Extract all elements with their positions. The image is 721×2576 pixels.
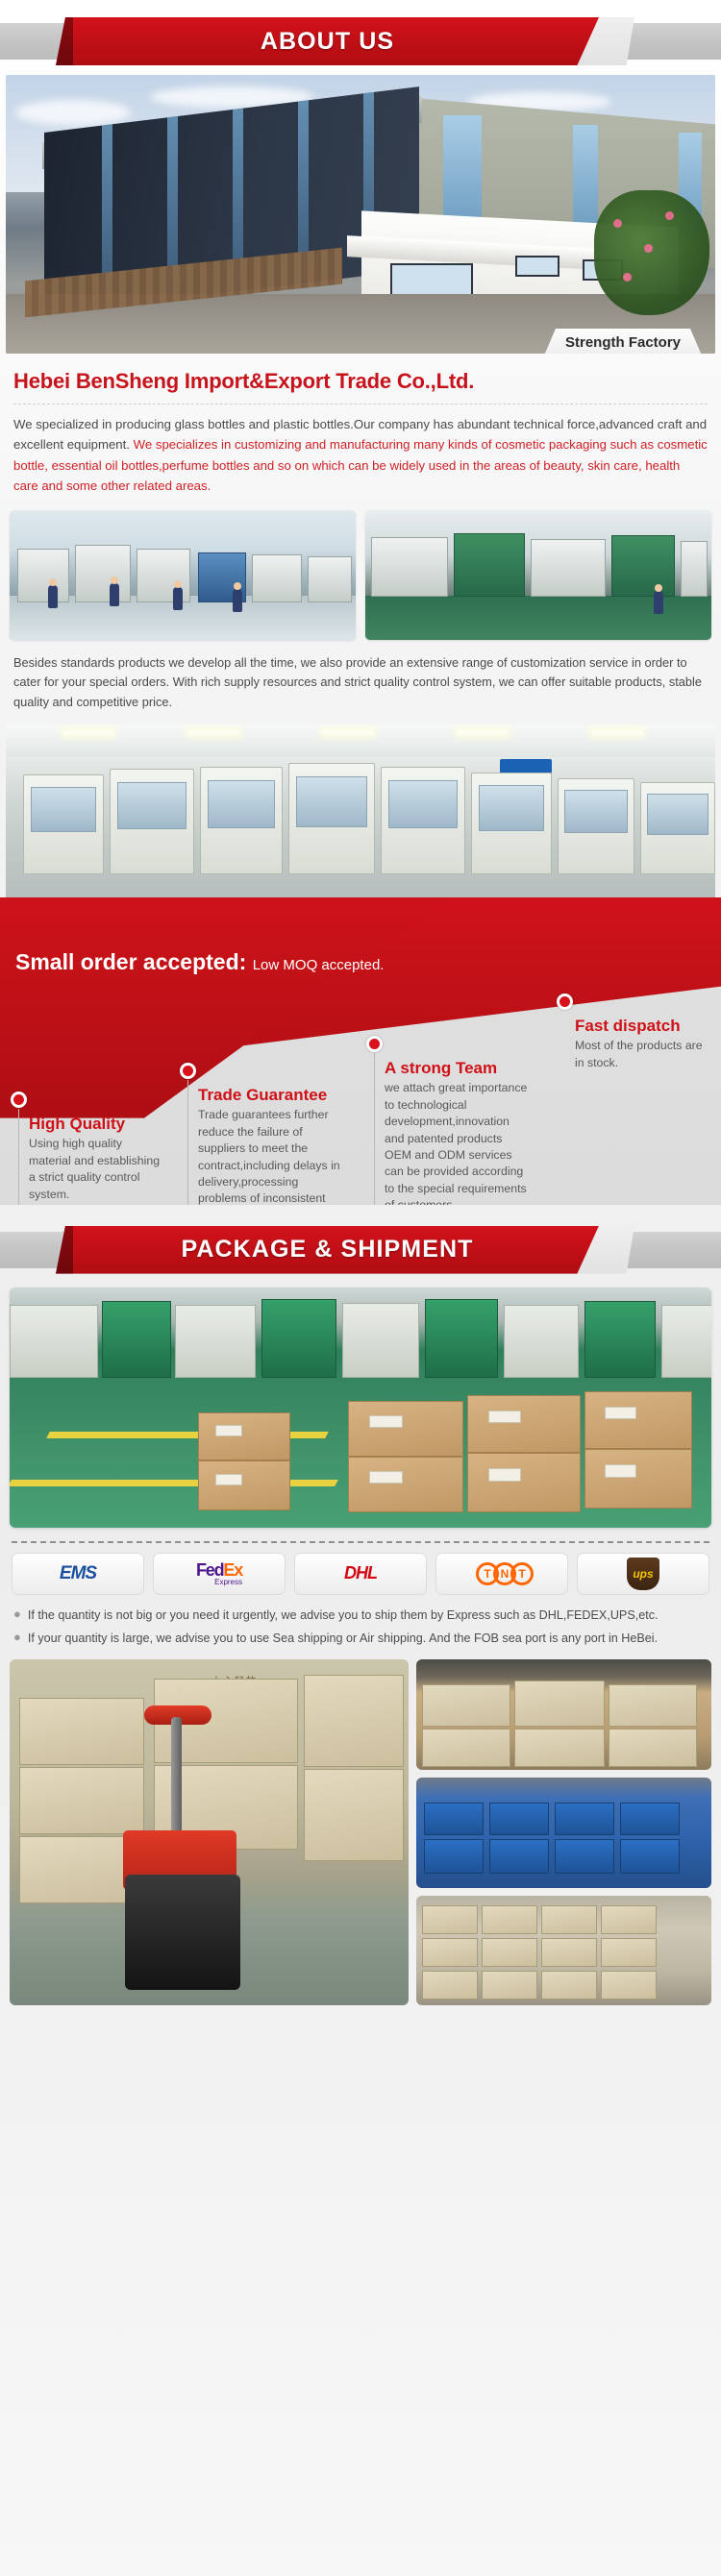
machine — [10, 1305, 98, 1378]
fedex-label: FedEx Express — [196, 1561, 242, 1586]
bush — [594, 190, 709, 315]
ceiling-lamp — [63, 730, 113, 735]
pallet-jack-body — [125, 1875, 240, 1990]
bullet-icon: ● — [13, 1607, 21, 1625]
feature-text: we attach great importance to technologi… — [385, 1080, 529, 1204]
rack-carton — [482, 1905, 537, 1934]
feature-text: Using high quality material and establis… — [29, 1136, 163, 1203]
stacked-carton — [19, 1698, 144, 1765]
carton-box — [198, 1460, 290, 1510]
worker — [654, 591, 663, 614]
worker — [110, 583, 119, 606]
rack-carton — [541, 1938, 597, 1967]
cloud-shape — [15, 100, 131, 125]
stacked-carton — [19, 1767, 144, 1834]
about-us-title: ABOUT US — [261, 28, 394, 56]
window-glass — [573, 125, 598, 231]
ups-logo[interactable]: ups — [577, 1553, 709, 1595]
feature-title: High Quality — [29, 1115, 163, 1134]
workshop-photo-right — [365, 510, 711, 640]
warehouse-rack-photo — [416, 1896, 711, 2005]
feature-strong-team: A strong Team we attach great importance… — [377, 1059, 529, 1205]
fedex-express-text: Express — [196, 1579, 242, 1586]
production-cell — [558, 778, 634, 874]
machine — [17, 549, 69, 602]
about-intro-paragraph: We specialized in producing glass bottle… — [13, 414, 708, 497]
tnt-letter: T — [510, 1562, 534, 1585]
blue-crate — [620, 1839, 680, 1874]
shipping-note-text: If your quantity is large, we advise you… — [28, 1630, 658, 1648]
machine — [102, 1301, 171, 1378]
feature-divider — [374, 1053, 375, 1205]
ceiling-lamp — [188, 730, 238, 735]
about-second-paragraph: Besides standards products we develop al… — [13, 653, 708, 713]
feature-dot-icon — [366, 1036, 383, 1052]
right-photo-column — [416, 1659, 711, 2005]
blue-crate — [424, 1839, 484, 1874]
feature-dot-icon — [180, 1063, 196, 1079]
dhl-label: DHL — [344, 1563, 377, 1583]
carton-box — [514, 1729, 605, 1767]
production-cell — [23, 774, 104, 874]
factory-hero-photo: Strength Factory — [6, 75, 715, 354]
machine — [371, 537, 448, 597]
feature-dot-icon — [557, 994, 573, 1010]
window-glass — [443, 115, 482, 229]
feature-divider — [187, 1080, 188, 1205]
carton-box — [467, 1395, 581, 1453]
machine — [661, 1305, 711, 1378]
carton-box — [514, 1681, 605, 1727]
rack-carton — [422, 1905, 478, 1934]
rack-carton — [422, 1938, 478, 1967]
blue-crate — [489, 1803, 549, 1835]
carton-box — [609, 1684, 697, 1727]
tnt-rings-icon: T N T — [476, 1562, 528, 1585]
shipping-note-item: ● If your quantity is large, we advise y… — [13, 1630, 708, 1648]
stacked-carton — [304, 1769, 404, 1861]
shipping-note-item: ● If the quantity is not big or you need… — [13, 1607, 708, 1625]
feature-dot-icon — [11, 1092, 27, 1108]
carton-box — [584, 1449, 692, 1509]
strength-factory-label: Strength Factory — [565, 334, 681, 351]
about-us-page: ABOUT US Strength Fa — [0, 13, 721, 2005]
machine — [252, 554, 302, 602]
feature-title: Fast dispatch — [575, 1017, 711, 1036]
machine — [342, 1303, 419, 1378]
rack-carton — [422, 1971, 478, 1999]
production-cell — [381, 767, 465, 874]
features-banner: Small order accepted: Low MOQ accepted. … — [0, 897, 721, 1205]
feature-text: Most of the products are in stock. — [575, 1038, 711, 1071]
wall-sign — [500, 759, 552, 773]
ems-logo[interactable]: EMS — [12, 1553, 144, 1595]
rack-carton — [601, 1938, 657, 1967]
machine — [611, 535, 675, 597]
office-window — [515, 256, 559, 277]
worker — [48, 585, 58, 608]
blue-crate — [424, 1803, 484, 1835]
cartons-photo — [416, 1659, 711, 1770]
bottom-photo-grid: 小心轻放 — [10, 1659, 711, 2005]
production-cell — [640, 782, 715, 874]
rack-carton — [482, 1971, 537, 1999]
machine — [454, 533, 525, 597]
rack-carton — [601, 1971, 657, 1999]
carton-box — [422, 1729, 510, 1767]
feature-text: Trade guarantees further reduce the fail… — [198, 1107, 342, 1204]
about-us-ribbon: ABOUT US — [0, 13, 721, 69]
wide-workshop-photo — [6, 724, 715, 897]
ceiling-lamp — [458, 730, 508, 735]
production-cell — [200, 767, 283, 874]
machine — [504, 1305, 579, 1378]
strength-factory-badge: Strength Factory — [544, 329, 702, 354]
carton-box — [609, 1729, 697, 1767]
ups-shield-icon: ups — [627, 1558, 659, 1590]
worker — [233, 589, 242, 612]
shipping-notes: ● If the quantity is not big or you need… — [13, 1607, 708, 1648]
feature-high-quality: High Quality Using high quality material… — [21, 1115, 163, 1203]
machine — [425, 1299, 498, 1378]
machine — [308, 556, 352, 602]
rack-carton — [482, 1938, 537, 1967]
carton-box — [198, 1412, 290, 1460]
ribbon-red-banner: ABOUT US — [56, 17, 599, 65]
workshop-photo-row — [10, 510, 711, 640]
machine — [75, 545, 131, 602]
carton-box — [467, 1453, 581, 1512]
dashed-divider — [12, 1541, 709, 1543]
stacked-carton — [304, 1675, 404, 1767]
feature-fast-dispatch: Fast dispatch Most of the products are i… — [567, 1017, 711, 1071]
machine — [584, 1301, 656, 1378]
feature-trade-guarantee: Trade Guarantee Trade guarantees further… — [190, 1086, 342, 1205]
feature-columns: High Quality Using high quality material… — [0, 897, 721, 1205]
packaging-warehouse-photo — [10, 1288, 711, 1528]
carton-box — [422, 1684, 510, 1727]
machine — [681, 541, 708, 597]
feature-title: Trade Guarantee — [198, 1086, 342, 1105]
carton-box — [584, 1391, 692, 1449]
production-cell — [288, 763, 375, 874]
ceiling-lamp — [592, 730, 642, 735]
workshop-photo-left — [10, 510, 356, 640]
carrier-logos: EMS FedEx Express DHL T N T ups — [12, 1553, 709, 1595]
blue-crates-photo — [416, 1778, 711, 1888]
rack-carton — [601, 1905, 657, 1934]
package-shipment-ribbon: PACKAGE & SHIPMENT — [0, 1222, 721, 1278]
feature-title: A strong Team — [385, 1059, 529, 1078]
machine — [531, 539, 606, 597]
rack-carton — [541, 1971, 597, 1999]
tnt-logo[interactable]: T N T — [435, 1553, 568, 1595]
production-cell — [471, 773, 552, 874]
dhl-logo[interactable]: DHL — [294, 1553, 427, 1595]
fedex-logo[interactable]: FedEx Express — [153, 1553, 286, 1595]
ribbon-red-banner: PACKAGE & SHIPMENT — [56, 1226, 599, 1274]
feature-divider — [18, 1109, 19, 1205]
ems-label: EMS — [60, 1563, 96, 1584]
blue-crate — [555, 1839, 614, 1874]
bullet-icon: ● — [13, 1630, 21, 1648]
production-cell — [110, 769, 194, 874]
machine — [175, 1305, 256, 1378]
carton-box — [348, 1457, 463, 1512]
worker — [173, 587, 183, 610]
ceiling-lamp — [323, 730, 373, 735]
blue-crate — [489, 1839, 549, 1874]
blue-crate — [620, 1803, 680, 1835]
company-name: Hebei BenSheng Import&Export Trade Co.,L… — [13, 369, 708, 405]
machine — [261, 1299, 336, 1378]
blue-crate — [555, 1803, 614, 1835]
pallet-jack-handle — [171, 1717, 182, 1842]
rack-carton — [541, 1905, 597, 1934]
pallet-jack-photo: 小心轻放 — [10, 1659, 409, 2005]
fedex-ex-text: Ex — [223, 1560, 242, 1580]
package-shipment-title: PACKAGE & SHIPMENT — [181, 1236, 473, 1263]
shipping-note-text: If the quantity is not big or you need i… — [28, 1607, 659, 1625]
fedex-fed-text: Fed — [196, 1560, 223, 1580]
carton-box — [348, 1401, 463, 1457]
